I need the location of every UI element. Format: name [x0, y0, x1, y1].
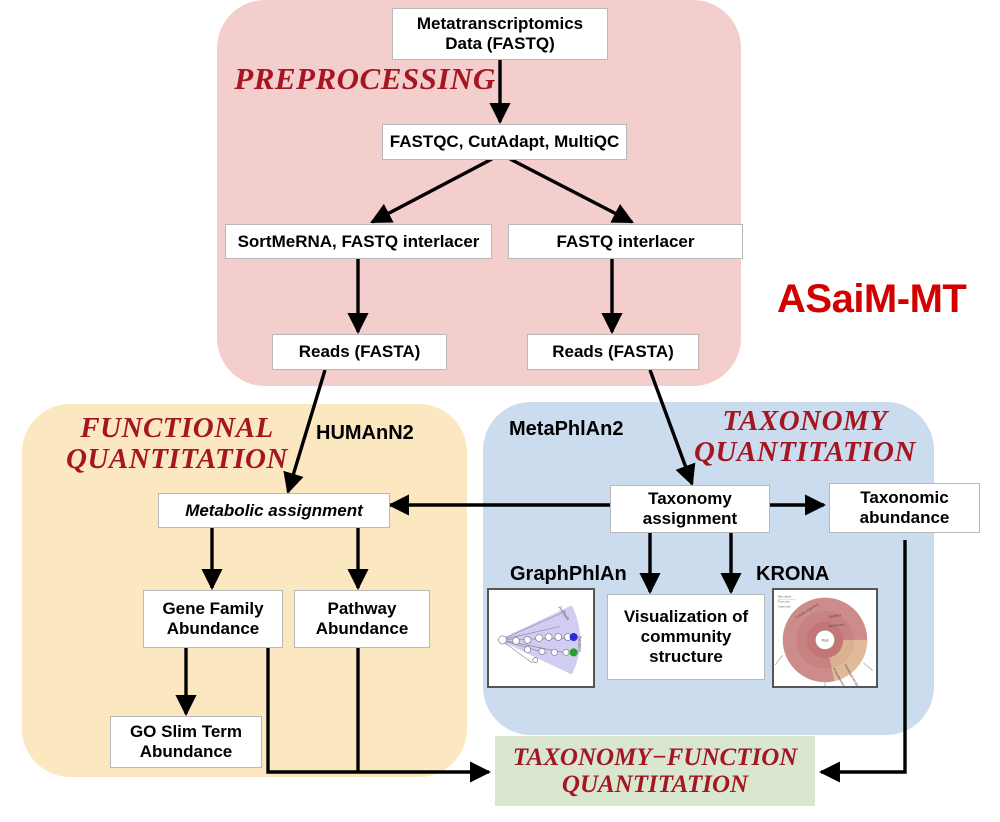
svg-text:Chart size: Chart size — [778, 604, 791, 608]
tool-label-graphlan: GraphPhlAn — [510, 563, 627, 586]
node-qc-tools: FASTQC, CutAdapt, MultiQC — [382, 124, 627, 160]
svg-text:Max depth: Max depth — [778, 595, 792, 599]
krona-thumbnail: Root Cellular organism Bacteria Firmicut… — [772, 588, 878, 688]
panel-title-preprocessing: PREPROCESSING — [232, 63, 498, 96]
panel-title-functional: FUNCTIONAL QUANTITATION — [42, 413, 312, 474]
panel-title-taxonomy: TAXONOMY QUANTITATION — [660, 406, 950, 467]
node-taxonomy-assignment: Taxonomy assignment — [610, 485, 770, 533]
node-fastq-interlacer: FASTQ interlacer — [508, 224, 743, 259]
result-taxonomy-function-quantitation: TAXONOMY−FUNCTION QUANTITATION — [495, 736, 815, 806]
svg-text:Font size: Font size — [778, 599, 790, 603]
node-gene-family-abundance: Gene Family Abundance — [143, 590, 283, 648]
brand-title-asaim-mt: ASaiM-MT — [777, 277, 966, 322]
node-taxonomic-abundance: Taxonomic abundance — [829, 483, 980, 533]
graphlan-thumbnail: Archaea Bacteria — [487, 588, 595, 688]
tool-label-krona: KRONA — [756, 563, 829, 586]
node-reads-right: Reads (FASTA) — [527, 334, 699, 370]
node-metabolic-assignment: Metabolic assignment — [158, 493, 390, 528]
node-sortmerna: SortMeRNA, FASTQ interlacer — [225, 224, 492, 259]
node-input-data: Metatranscriptomics Data (FASTQ) — [392, 8, 608, 60]
node-community-visualization: Visualization of community structure — [607, 594, 765, 680]
tool-label-metaphlan2: MetaPhlAn2 — [509, 418, 623, 441]
node-reads-left: Reads (FASTA) — [272, 334, 447, 370]
svg-text:Root: Root — [822, 638, 829, 642]
tool-label-humann2: HUMAnN2 — [316, 422, 414, 445]
svg-text:Bacteria: Bacteria — [577, 636, 582, 652]
node-go-slim-abundance: GO Slim Term Abundance — [110, 716, 262, 768]
workflow-diagram: PREPROCESSING FUNCTIONAL QUANTITATION TA… — [0, 0, 1000, 822]
node-pathway-abundance: Pathway Abundance — [294, 590, 430, 648]
